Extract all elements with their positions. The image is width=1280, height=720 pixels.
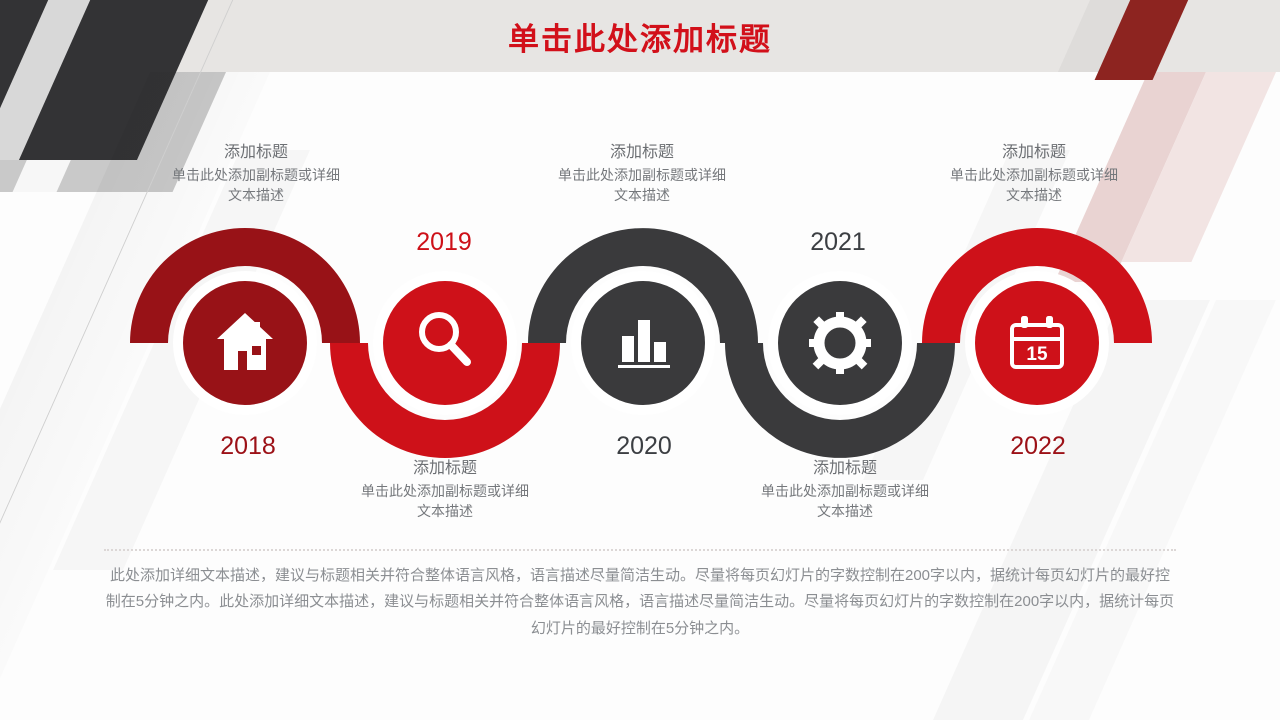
year-label-2022: 2022 (938, 432, 1138, 461)
caption-title: 添加标题 (695, 458, 995, 481)
caption-line-1: 单击此处添加副标题或详细 (106, 166, 406, 186)
timeline-node-2018[interactable] (183, 281, 307, 405)
timeline-node-2022[interactable]: 15 (975, 281, 1099, 405)
caption-2021: 添加标题 单击此处添加副标题或详细 文本描述 (695, 458, 995, 521)
page-title: 单击此处添加标题 (0, 14, 1280, 59)
caption-line-1: 单击此处添加副标题或详细 (295, 482, 595, 502)
slide-canvas: 单击此处添加标题 (0, 0, 1280, 720)
caption-title: 添加标题 (492, 142, 792, 165)
caption-line-1: 单击此处添加副标题或详细 (492, 166, 792, 186)
caption-2018: 添加标题 单击此处添加副标题或详细 文本描述 (106, 142, 406, 205)
caption-title: 添加标题 (295, 458, 595, 481)
caption-title: 添加标题 (884, 142, 1184, 165)
footer-paragraph: 此处添加详细文本描述，建议与标题相关并符合整体语言风格，语言描述尽量简洁生动。尽… (104, 563, 1176, 642)
caption-2019: 添加标题 单击此处添加副标题或详细 文本描述 (295, 458, 595, 521)
caption-2020: 添加标题 单击此处添加副标题或详细 文本描述 (492, 142, 792, 205)
calendar-day-label: 15 (1026, 344, 1048, 365)
caption-title: 添加标题 (106, 142, 406, 165)
caption-line-2: 文本描述 (695, 502, 995, 522)
year-label-2021: 2021 (738, 228, 938, 257)
timeline-node-2021[interactable] (778, 281, 902, 405)
caption-line-1: 单击此处添加副标题或详细 (695, 482, 995, 502)
caption-line-2: 文本描述 (492, 186, 792, 206)
year-label-2019: 2019 (344, 228, 544, 257)
timeline-node-2019[interactable] (383, 281, 507, 405)
caption-line-2: 文本描述 (295, 502, 595, 522)
gear-icon (809, 312, 871, 374)
footer-divider (104, 549, 1176, 551)
caption-line-2: 文本描述 (106, 186, 406, 206)
year-label-2018: 2018 (148, 432, 348, 461)
caption-line-1: 单击此处添加副标题或详细 (884, 166, 1184, 186)
year-label-2020: 2020 (544, 432, 744, 461)
timeline-node-2020[interactable] (581, 281, 705, 405)
caption-2022: 添加标题 单击此处添加副标题或详细 文本描述 (884, 142, 1184, 205)
caption-line-2: 文本描述 (884, 186, 1184, 206)
